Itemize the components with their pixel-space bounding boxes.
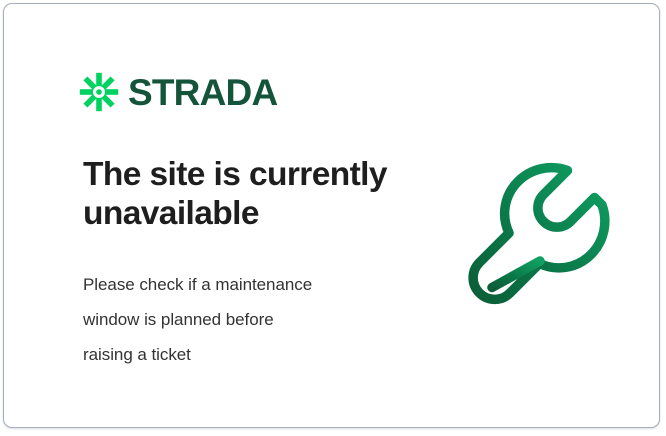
strada-starburst-icon — [79, 72, 119, 112]
body-line-2: window is planned before — [83, 302, 423, 337]
brand-lockup: STRADA — [79, 72, 277, 112]
unavailable-card: STRADA The site is currently unavailable… — [3, 3, 660, 428]
brand-wordmark: STRADA — [128, 74, 277, 111]
headline-line-2: unavailable — [83, 195, 423, 234]
body-line-1: Please check if a maintenance — [83, 267, 423, 302]
wrench-icon — [456, 154, 616, 314]
page-description: Please check if a maintenance window is … — [83, 234, 423, 373]
page-title: The site is currently unavailable — [83, 156, 423, 234]
headline-line-1: The site is currently — [83, 156, 423, 195]
message-block: The site is currently unavailable Please… — [83, 156, 423, 372]
body-line-3: raising a ticket — [83, 337, 423, 372]
